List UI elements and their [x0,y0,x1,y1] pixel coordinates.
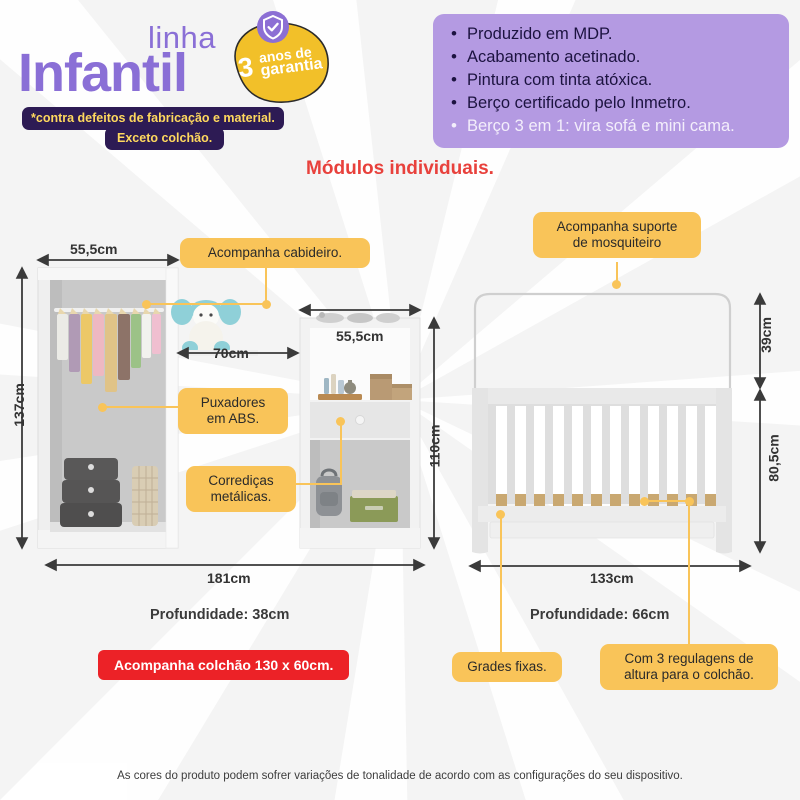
feature-item: Acabamento acetinado. [433,46,789,69]
callout-grades-stem [500,513,502,655]
callout-regulagens-stem [688,500,690,648]
dim-wardrobe-height: 137cm [11,383,27,427]
mattress-included-badge: Acompanha colchão 130 x 60cm. [98,650,349,680]
shield-check-icon [256,10,290,44]
callout-puxadores-line2: em ABS. [189,411,277,427]
callout-mosquiteiro: Acompanha suporte de mosquiteiro [533,212,701,258]
crib-depth-label: Profundidade: 66cm [530,607,669,623]
feature-item: Berço 3 em 1: vira sofá e mini cama. [433,115,789,138]
callout-mosquiteiro-line2: de mosquiteiro [544,235,690,251]
callout-regulagens-line2: altura para o colchão. [611,667,767,683]
callout-corredicas-lead [294,483,342,485]
dim-crib-height: 80,5cm [766,434,782,481]
callout-cabideiro: Acompanha cabideiro. [180,238,370,268]
callout-mosquiteiro-anchor [612,280,621,289]
callout-puxadores-lead [102,406,180,408]
callout-corredicas-stem [340,420,342,485]
callout-grades-anchor [496,510,505,519]
callout-corredicas-line1: Corrediças [197,473,285,489]
dim-left-total-width: 181cm [207,570,251,586]
callout-regulagens-anchor [640,497,649,506]
callout-puxadores: Puxadores em ABS. [178,388,288,434]
callout-cabideiro-dot [262,300,271,309]
callout-cabideiro-lead [146,303,268,305]
callout-cabideiro-anchor [142,300,151,309]
callout-puxadores-anchor [98,403,107,412]
dim-shelf-height: 110cm [426,425,442,468]
dim-crib-net-height: 39cm [758,317,774,353]
callout-corredicas: Corrediças metálicas. [186,466,296,512]
crib-dimension-arrows [450,280,800,600]
page-title: Módulos individuais. [0,158,800,180]
warranty-years: 3 [237,54,255,83]
callout-cabideiro-stem [265,268,267,304]
feature-item: Produzido em MDP. [433,23,789,46]
callout-grades: Grades fixas. [452,652,562,682]
footer-disclaimer: As cores do produto podem sofrer variaçõ… [0,770,800,782]
dim-gap-width: 70cm [213,345,249,361]
warranty-disclaimer-2: Exceto colchão. [105,127,224,150]
left-depth-label: Profundidade: 38cm [150,607,289,623]
feature-item: Pintura com tinta atóxica. [433,69,789,92]
dim-shelf-width: 55,5cm [336,328,383,344]
callout-corredicas-anchor [336,417,345,426]
feature-item: Berço certificado pelo Inmetro. [433,92,789,115]
callout-regulagens-dot [685,497,694,506]
callout-corredicas-line2: metálicas. [197,489,285,505]
dim-crib-width: 133cm [590,570,634,586]
feature-list: Produzido em MDP.Acabamento acetinado.Pi… [433,14,789,148]
callout-puxadores-line1: Puxadores [189,395,277,411]
callout-mosquiteiro-line1: Acompanha suporte [544,219,690,235]
brand-title: Infantil [18,42,187,104]
brand-header: linha Infantil 3 anos de garantia *contr… [0,4,430,154]
callout-regulagens: Com 3 regulagens de altura para o colchã… [600,644,778,690]
dim-wardrobe-width: 55,5cm [70,241,117,257]
callout-regulagens-line1: Com 3 regulagens de [611,651,767,667]
